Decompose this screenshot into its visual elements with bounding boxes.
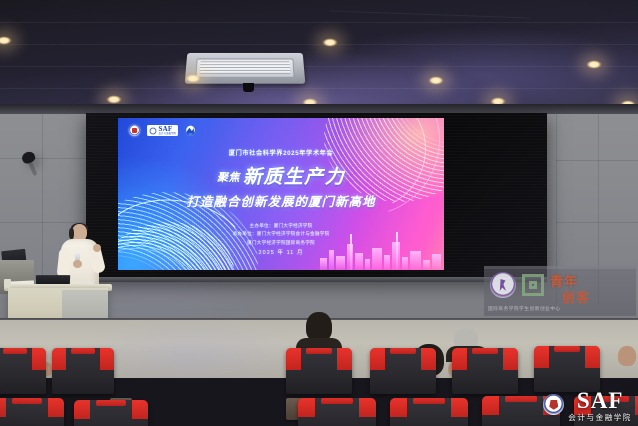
audience-seat[interactable]	[390, 398, 468, 426]
saf-logo: SAF 会计与金融学院	[147, 125, 178, 136]
hui-square-icon	[522, 274, 544, 296]
audience-seat[interactable]	[74, 400, 148, 426]
institute-circle-logo-icon	[185, 125, 196, 136]
slide-credit-line: 厦门大学经济学院国际商务学院	[118, 239, 444, 247]
slide-eyebrow-text: 厦门市社会科学界2025年学术年会	[118, 148, 444, 157]
university-emblem-icon	[490, 272, 516, 298]
audience-seat[interactable]	[0, 348, 46, 394]
presenter-right-hand	[93, 244, 101, 252]
ceiling-downlight	[586, 60, 602, 69]
wall-sign-caption: 国际商务学院学生创新创业中心	[488, 306, 561, 312]
audience-seat[interactable]	[286, 348, 352, 394]
wall-sign-title-line2: 创客	[562, 287, 590, 306]
audience-head	[618, 346, 636, 366]
slide-date: 2025 年 11 月	[118, 248, 444, 256]
slide-credit-line: 承办单位：厦门大学经济学院会计与金融学院	[118, 230, 444, 238]
ceiling-downlight	[428, 76, 444, 85]
slide-title: 聚焦新质生产力	[118, 162, 444, 189]
slide-title-lead: 聚焦	[217, 172, 240, 184]
ceiling-downlight	[106, 95, 122, 104]
photo-scene: SAF 会计与金融学院 厦门市社会科学界2025年学术年会 聚焦新质生产力 打造…	[0, 0, 638, 426]
audience-seat[interactable]	[52, 348, 114, 394]
ceiling-downlight	[185, 74, 201, 83]
presentation-slide: SAF 会计与金融学院 厦门市社会科学界2025年学术年会 聚焦新质生产力 打造…	[118, 118, 444, 270]
saf-logo-sublabel: 会计与金融学院	[159, 133, 176, 135]
slide-credit-line: 主办单位：厦门大学经济学院	[118, 222, 444, 230]
ceiling-downlight	[322, 38, 338, 47]
audience-seat[interactable]	[452, 348, 518, 394]
slide-logo-row: SAF 会计与金融学院	[129, 125, 196, 136]
audience-seat[interactable]	[370, 348, 436, 394]
wall-sign-banner: 青年 创客 国际商务学院学生创新创业中心	[484, 266, 636, 316]
ceiling-ac-unit	[185, 53, 306, 84]
audience-seat[interactable]	[298, 398, 376, 426]
audience-seat[interactable]	[0, 398, 64, 426]
slide-title-main: 新质生产力	[243, 167, 345, 188]
paper-cup	[4, 279, 11, 288]
slide-subtitle: 打造融合创新发展的厦门新高地	[118, 191, 444, 210]
saf-watermark: SAF 会计与金融学院	[543, 389, 632, 422]
audience-seat[interactable]	[534, 346, 600, 392]
university-seal-icon	[543, 394, 564, 415]
watermark-chinese-name: 会计与金融学院	[568, 414, 632, 422]
ac-sensor-icon	[243, 83, 254, 92]
saf-seal-icon	[149, 127, 157, 135]
watermark-acronym: SAF	[577, 389, 623, 412]
presenter-left-hand	[73, 260, 82, 268]
slide-credits: 主办单位：厦门大学经济学院 承办单位：厦门大学经济学院会计与金融学院 厦门大学经…	[118, 222, 444, 247]
university-seal-logo-icon	[129, 125, 140, 136]
ceiling	[0, 0, 638, 108]
